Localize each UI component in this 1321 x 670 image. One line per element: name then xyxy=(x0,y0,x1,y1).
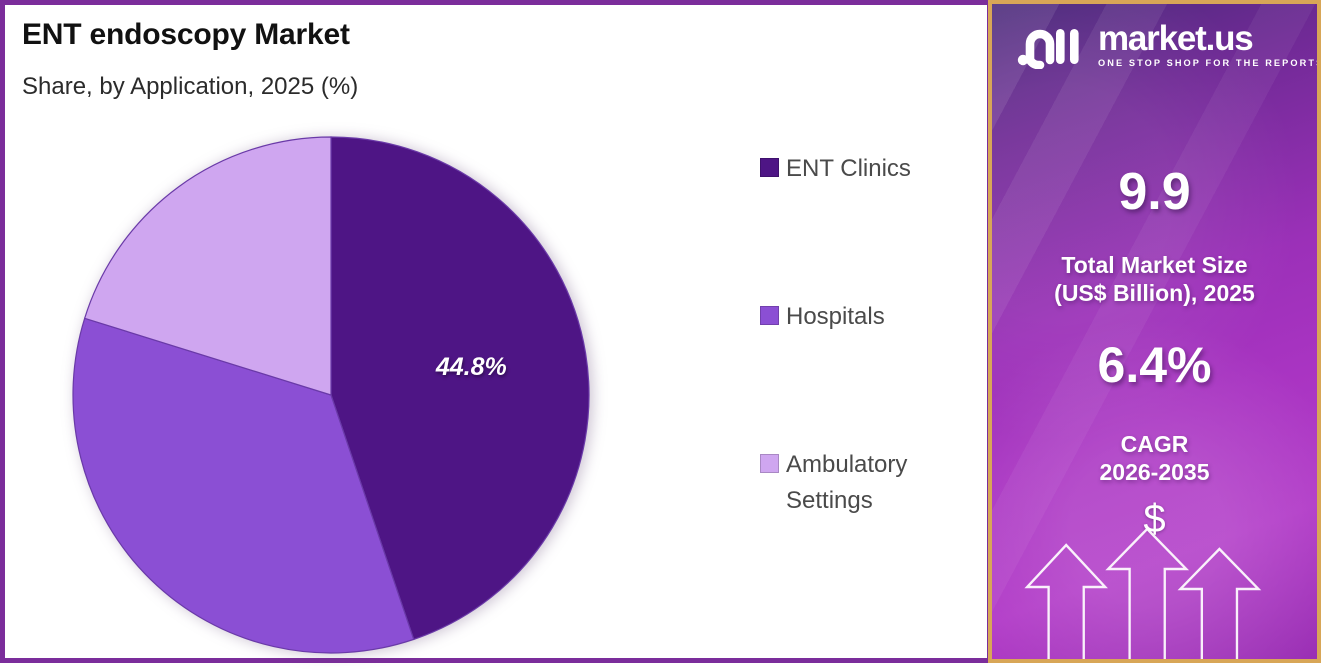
legend-label-ent-clinics: ENT Clinics xyxy=(786,151,911,187)
legend-label-ambulatory-settings: Ambulatory Settings xyxy=(786,447,976,519)
legend-label-hospitals: Hospitals xyxy=(786,299,885,335)
legend-item-hospitals[interactable]: Hospitals xyxy=(760,299,985,335)
cagr-caption-line1: CAGR xyxy=(992,430,1317,458)
chart-panel: ENT endoscopy Market Share, by Applicati… xyxy=(0,0,992,663)
legend-item-ambulatory-settings[interactable]: Ambulatory Settings xyxy=(760,447,985,519)
cagr-caption: CAGR 2026-2035 xyxy=(992,430,1317,486)
market-size-value: 9.9 xyxy=(992,162,1317,222)
market-us-logo[interactable]: market.us ONE STOP SHOP FOR THE REPORTS xyxy=(1016,16,1296,74)
market-us-logo-mark-icon xyxy=(1016,21,1090,69)
cagr-caption-line2: 2026-2035 xyxy=(992,458,1317,486)
market-size-caption-line1: Total Market Size xyxy=(992,251,1317,279)
infographic-root: ENT endoscopy Market Share, by Applicati… xyxy=(0,0,1321,663)
legend-item-ent-clinics[interactable]: ENT Clinics xyxy=(760,151,985,187)
page-subtitle: Share, by Application, 2025 (%) xyxy=(22,73,358,101)
pie-slice-label-ent-clinics: 44.8% xyxy=(436,353,507,382)
logo-tagline: ONE STOP SHOP FOR THE REPORTS xyxy=(1098,58,1321,68)
logo-wordmark: market.us xyxy=(1098,22,1321,56)
page-title: ENT endoscopy Market xyxy=(22,18,350,52)
market-size-caption: Total Market Size (US$ Billion), 2025 xyxy=(992,251,1317,307)
legend-swatch-icon-ambulatory-settings xyxy=(760,454,779,473)
market-size-caption-line2: (US$ Billion), 2025 xyxy=(992,279,1317,307)
legend-swatch-icon-hospitals xyxy=(760,306,779,325)
chart-legend: ENT Clinics Hospitals Ambulatory Setting… xyxy=(760,151,985,519)
brand-stats-panel: market.us ONE STOP SHOP FOR THE REPORTS … xyxy=(988,0,1321,663)
pie-slices-svg xyxy=(61,125,606,670)
growth-arrows-icon xyxy=(992,529,1317,659)
pie-chart: 44.8% xyxy=(61,125,606,670)
legend-swatch-icon-ent-clinics xyxy=(760,158,779,177)
cagr-value: 6.4% xyxy=(992,336,1317,394)
